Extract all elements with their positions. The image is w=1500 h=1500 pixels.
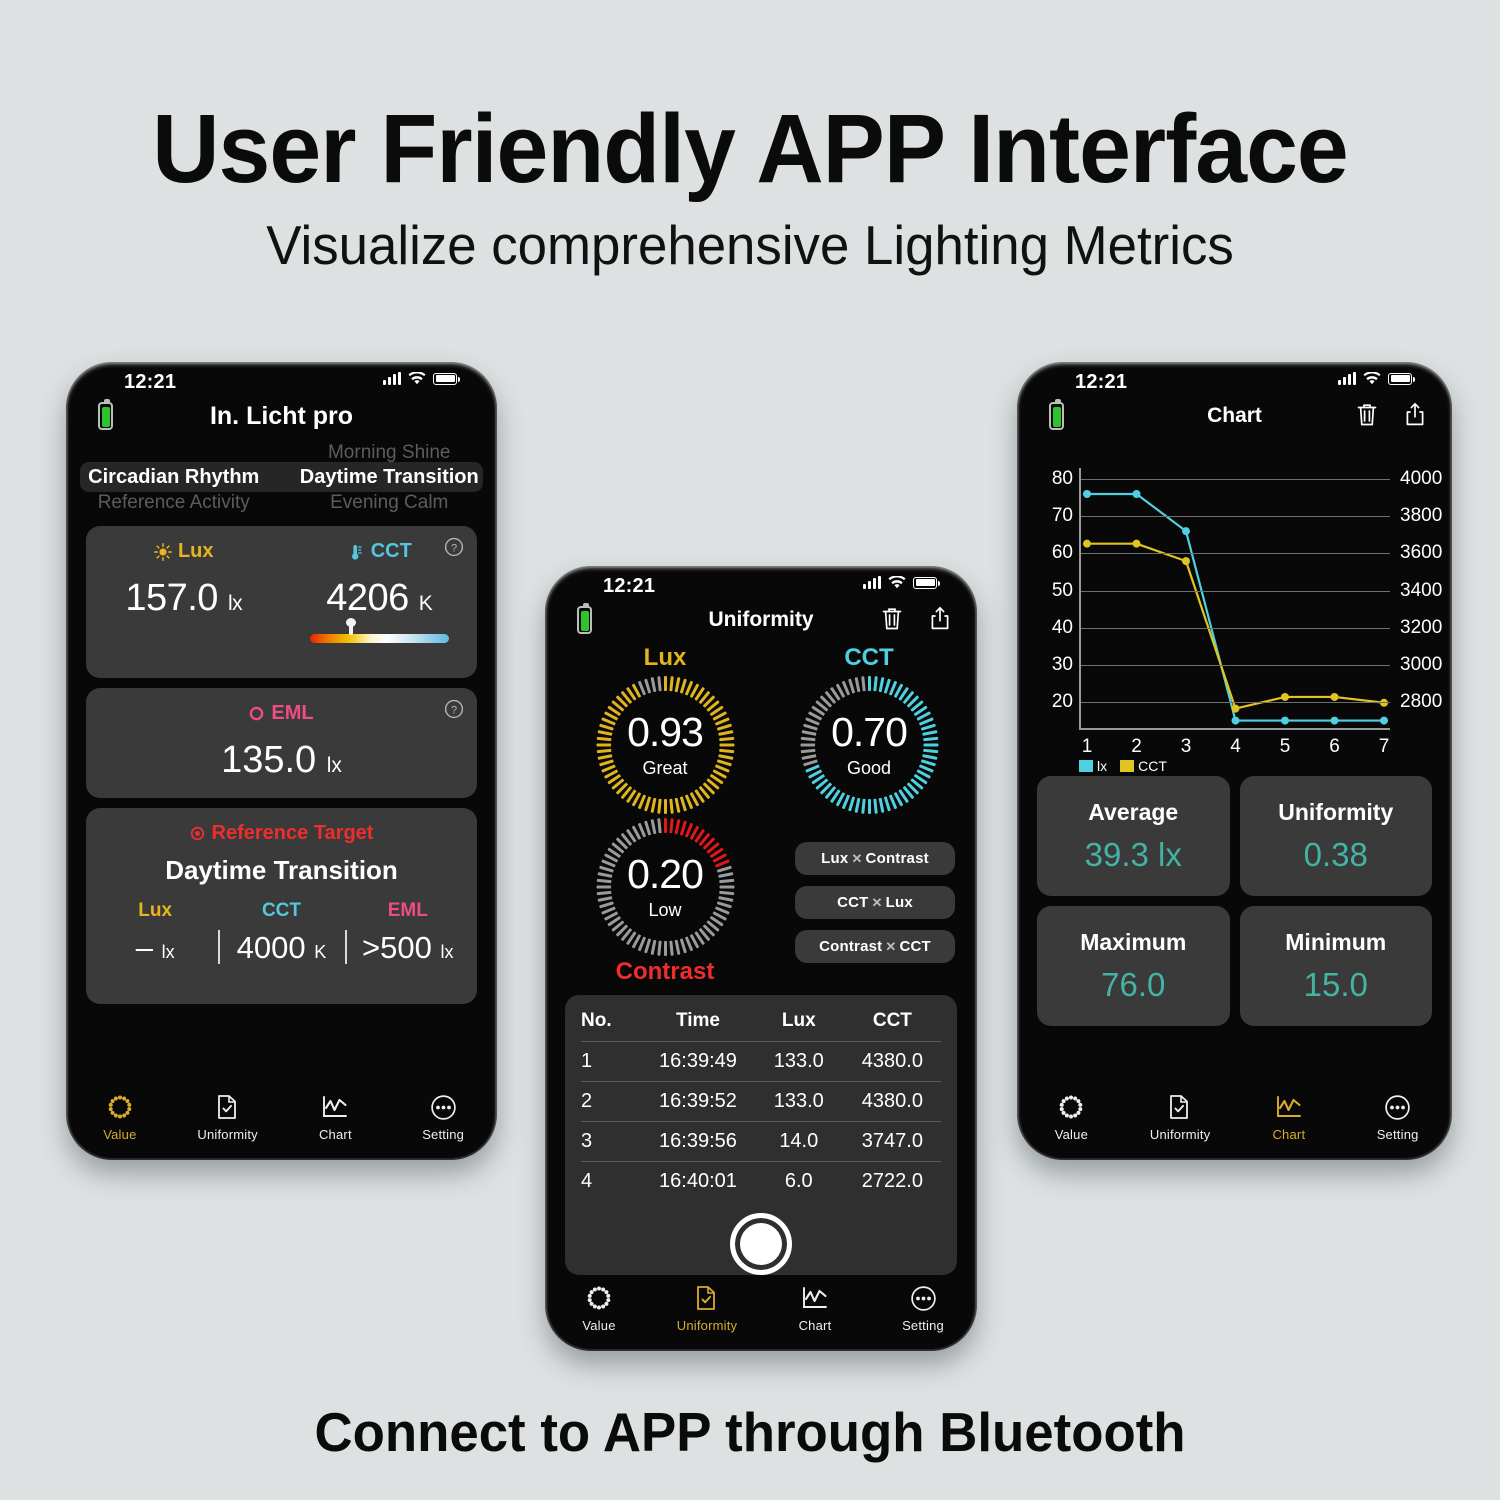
chart-plot: 2028003030004032005034006036007038008040… — [1079, 468, 1390, 730]
gauge-tick — [873, 676, 877, 691]
chart-x-tick: 3 — [1181, 736, 1192, 758]
chart-x-tick: 7 — [1379, 736, 1390, 758]
reference-cell-value: – lx — [92, 930, 218, 966]
picker-left-selected[interactable]: Circadian Rhythm — [66, 466, 282, 489]
sun-icon — [154, 543, 172, 561]
chart-y-left-tick: 60 — [1052, 542, 1073, 564]
lux-cct-card: ? Lux 157.0 lx CCT 4206 K — [86, 526, 477, 678]
tab-chart[interactable]: Chart — [282, 1092, 390, 1142]
chart-data-point[interactable] — [1182, 527, 1190, 535]
status-bar: 12:21 — [66, 362, 497, 398]
picker-left-below[interactable]: Reference Activity — [66, 492, 282, 514]
chart-y-left-tick: 80 — [1052, 468, 1073, 490]
gauge-tick — [674, 677, 680, 692]
table-row[interactable]: 416:40:016.02722.0 — [581, 1162, 941, 1202]
table-cell: 1 — [581, 1042, 642, 1082]
picker-right-below[interactable]: Evening Calm — [282, 492, 498, 514]
table-cell: 2722.0 — [844, 1162, 941, 1202]
gauge-tick — [657, 799, 661, 814]
gauge-quality: Good — [847, 758, 891, 779]
header-actions — [1356, 402, 1426, 427]
comparison-chips: Lux✕Contrast CCT✕Lux Contrast✕CCT — [795, 842, 955, 974]
chip-contrast-cct[interactable]: Contrast✕CCT — [795, 930, 955, 963]
app-title: In. Licht pro — [66, 398, 497, 434]
gauge-quality: Low — [648, 900, 681, 921]
reference-cell-value: >500 lx — [345, 930, 471, 966]
tab-label: Value — [545, 1318, 653, 1333]
tab-bar[interactable]: ValueUniformityChartSetting — [66, 1092, 497, 1142]
gauge-center: 0.20 Low — [611, 833, 719, 941]
chart-series-lx — [1087, 494, 1384, 721]
chart-area: 2028003030004032005034006036007038008040… — [1017, 446, 1452, 776]
chart-gridline — [1081, 516, 1390, 517]
gauge-tick — [657, 818, 661, 833]
chart-y-right-tick: 4000 — [1400, 468, 1442, 490]
gauge-tick — [719, 886, 734, 889]
value-ring-icon — [66, 1092, 174, 1122]
reference-target-grid: Lux – lx CCT 4000 K EML >500 lx — [86, 886, 477, 984]
gauge-tick — [800, 744, 815, 747]
stat-maximum: Maximum 76.0 — [1037, 906, 1230, 1026]
tab-value[interactable]: Value — [545, 1283, 653, 1333]
gauge-tick — [669, 676, 673, 691]
chart-data-point[interactable] — [1331, 717, 1339, 725]
gauge-tick — [657, 676, 661, 691]
gauge-tick — [861, 799, 865, 814]
chart-x-tick: 2 — [1131, 736, 1142, 758]
gauge-tick — [800, 749, 815, 753]
table-cell: 16:39:52 — [642, 1082, 754, 1122]
chart-data-point[interactable] — [1281, 693, 1289, 701]
chart-data-point[interactable] — [1083, 540, 1091, 548]
table-cell: 133.0 — [754, 1042, 844, 1082]
document-check-icon — [174, 1092, 282, 1122]
reference-cell: EML >500 lx — [345, 900, 471, 966]
cct-gradient-bar — [310, 634, 450, 643]
tab-value[interactable]: Value — [1017, 1092, 1126, 1142]
gauge-tick — [657, 941, 661, 956]
tab-chart[interactable]: Chart — [1235, 1092, 1344, 1142]
gauge-tick — [719, 744, 734, 747]
value-ring-icon — [545, 1283, 653, 1313]
tab-bar[interactable]: ValueUniformityChartSetting — [1017, 1092, 1452, 1142]
page-subtitle: Visualize comprehensive Lighting Metrics — [30, 213, 1470, 277]
capture-button[interactable] — [730, 1213, 792, 1275]
gauge-tick — [861, 676, 865, 691]
gauge-tick — [650, 677, 656, 692]
chart-x-tick: 5 — [1280, 736, 1291, 758]
eml-label: EML — [86, 688, 477, 725]
chart-y-left-tick: 70 — [1052, 505, 1073, 527]
thermometer-icon — [347, 543, 365, 561]
gauge-tick — [800, 737, 815, 741]
gauge-cct: 0.70 Good — [800, 676, 938, 814]
chart-gridline — [1081, 553, 1390, 554]
gauge-tick — [669, 941, 673, 956]
gauge-tick — [674, 940, 680, 955]
reference-cell: CCT 4000 K — [218, 900, 344, 966]
cellular-signal-icon — [863, 576, 881, 589]
gauge-tick — [596, 891, 611, 895]
gauge-tick — [868, 676, 871, 691]
chart-data-point[interactable] — [1281, 717, 1289, 725]
battery-icon — [1388, 373, 1412, 385]
gauge-value: 0.20 — [627, 854, 703, 895]
svg-text:?: ? — [451, 704, 457, 716]
trash-icon[interactable] — [881, 606, 903, 631]
gauge-tick — [669, 818, 673, 833]
chart-y-left-tick: 30 — [1052, 654, 1073, 676]
chart-y-right-tick: 3200 — [1400, 617, 1442, 639]
gauge-tick — [664, 941, 667, 956]
svg-text:?: ? — [451, 542, 457, 554]
phone-value-screen: 12:21 In. Licht pro Morning Shine Circad… — [66, 362, 497, 1160]
gauge-tick — [923, 744, 938, 747]
gauge-lux: 0.93 Great — [596, 676, 734, 814]
gauge-tick — [674, 819, 680, 834]
scene-picker[interactable]: Morning Shine Circadian Rhythm Daytime T… — [66, 442, 497, 516]
picker-left-above[interactable] — [66, 442, 282, 464]
cct-gradient-marker — [349, 623, 353, 635]
reference-target-card: Reference Target Daytime Transition Lux … — [86, 808, 477, 1004]
gauge-tick — [719, 879, 734, 883]
tab-uniformity[interactable]: Uniformity — [174, 1092, 282, 1142]
status-clock: 12:21 — [124, 371, 176, 394]
gauge-tick — [674, 798, 680, 813]
eye-circle-icon — [249, 706, 264, 721]
tab-label: Setting — [1343, 1127, 1452, 1142]
chart-gridline — [1081, 479, 1390, 480]
tab-setting[interactable]: Setting — [1343, 1092, 1452, 1142]
lux-metric: Lux 157.0 lx — [86, 540, 282, 643]
gauge-tick — [718, 730, 733, 736]
reference-cell-label: CCT — [218, 900, 344, 922]
status-bar: 12:21 — [1017, 362, 1452, 398]
reference-cell-label: Lux — [92, 900, 218, 922]
line-chart-icon — [761, 1283, 869, 1313]
status-indicators — [1338, 372, 1412, 385]
uniformity-gauges: Lux 0.93 Great CCT 0.70 Good 0.20 Low Co… — [545, 642, 977, 987]
tab-uniformity[interactable]: Uniformity — [653, 1283, 761, 1333]
stat-value: 76.0 — [1101, 966, 1165, 1004]
chart-x-tick: 4 — [1230, 736, 1241, 758]
wifi-icon — [1363, 372, 1381, 385]
stat-uniformity: Uniformity 0.38 — [1240, 776, 1433, 896]
chart-y-right-tick: 3000 — [1400, 654, 1442, 676]
app-header: Uniformity — [545, 602, 977, 642]
reference-cell-label: EML — [345, 900, 471, 922]
table-header-row: No.TimeLuxCCT — [581, 1005, 941, 1042]
table-cell: 6.0 — [754, 1162, 844, 1202]
gauge-center: 0.70 Good — [815, 691, 923, 799]
device-battery-icon — [1049, 402, 1064, 430]
gauge-tick — [719, 891, 734, 895]
table-cell: 16:39:49 — [642, 1042, 754, 1082]
table-cell: 16:40:01 — [642, 1162, 754, 1202]
gauge-value: 0.70 — [831, 712, 907, 753]
gauge-tick — [922, 730, 937, 736]
tab-value[interactable]: Value — [66, 1092, 174, 1142]
tab-label: Value — [66, 1127, 174, 1142]
measurement-table-card: No.TimeLuxCCT 116:39:49133.04380.0216:39… — [565, 995, 957, 1275]
status-bar: 12:21 — [545, 566, 977, 602]
chart-data-point[interactable] — [1133, 490, 1141, 498]
device-battery-icon — [577, 606, 592, 634]
table-cell: 4380.0 — [844, 1042, 941, 1082]
gauge-tick — [664, 799, 667, 814]
reference-target-label: Reference Target — [86, 808, 477, 845]
chart-y-left-tick: 50 — [1052, 580, 1073, 602]
status-clock: 12:21 — [1075, 371, 1127, 394]
gauge-tick — [664, 676, 667, 691]
target-icon — [190, 826, 205, 841]
chart-y-right-tick: 3800 — [1400, 505, 1442, 527]
tab-setting[interactable]: Setting — [869, 1283, 977, 1333]
gauge-tick — [650, 940, 656, 955]
chart-y-right-tick: 3600 — [1400, 542, 1442, 564]
table-column-header: CCT — [844, 1005, 941, 1042]
page-footer-text: Connect to APP through Bluetooth — [30, 1400, 1470, 1464]
chart-gridline — [1081, 665, 1390, 666]
tab-label: Chart — [761, 1318, 869, 1333]
stat-value: 39.3 lx — [1085, 836, 1182, 874]
gauge-tick — [597, 872, 612, 878]
ellipsis-circle-icon — [869, 1283, 977, 1313]
gauge-tick — [650, 819, 656, 834]
reference-target-name: Daytime Transition — [86, 845, 477, 886]
lux-label-text: Lux — [178, 540, 214, 563]
table-column-header: Time — [642, 1005, 754, 1042]
stat-minimum: Minimum 15.0 — [1240, 906, 1433, 1026]
times-icon: ✕ — [869, 895, 886, 911]
chart-x-tick: 6 — [1329, 736, 1340, 758]
share-icon[interactable] — [1404, 402, 1426, 427]
gauge-tick — [596, 749, 611, 753]
lux-value: 157.0 lx — [86, 577, 282, 620]
gauge-tick — [878, 677, 884, 692]
chart-legend: lx CCT — [1079, 758, 1167, 774]
document-check-icon — [653, 1283, 761, 1313]
picker-right-above[interactable]: Morning Shine — [282, 442, 498, 464]
chart-data-point[interactable] — [1232, 717, 1240, 725]
chart-gridline — [1081, 628, 1390, 629]
chart-data-point[interactable] — [1380, 717, 1388, 725]
gauge-tick — [854, 798, 860, 813]
table-cell: 133.0 — [754, 1082, 844, 1122]
header-actions — [881, 606, 951, 631]
cct-value: 4206 K — [282, 577, 478, 620]
tab-uniformity[interactable]: Uniformity — [1126, 1092, 1235, 1142]
gauge-tick — [878, 798, 884, 813]
status-indicators — [863, 576, 937, 589]
table-cell: 3 — [581, 1122, 642, 1162]
help-icon[interactable]: ? — [444, 537, 464, 557]
stat-label: Uniformity — [1278, 799, 1393, 826]
chart-data-point[interactable] — [1133, 540, 1141, 548]
wifi-icon — [408, 372, 426, 385]
phone-chart-screen: 12:21 Chart 2028003030004032005034006036… — [1017, 362, 1452, 1160]
table-row[interactable]: 316:39:5614.03747.0 — [581, 1122, 941, 1162]
gauge-tick — [596, 879, 611, 883]
chart-stats-grid: Average 39.3 lx Uniformity 0.38 Maximum … — [1017, 776, 1452, 1026]
document-check-icon — [1126, 1092, 1235, 1122]
tab-label: Uniformity — [1126, 1127, 1235, 1142]
gauge-tick — [596, 744, 611, 747]
tab-chart[interactable]: Chart — [761, 1283, 869, 1333]
tab-label: Value — [1017, 1127, 1126, 1142]
stat-average: Average 39.3 lx — [1037, 776, 1230, 896]
legend-item-lx: lx — [1079, 758, 1107, 774]
ellipsis-circle-icon — [1343, 1092, 1452, 1122]
gauge-tick — [718, 872, 733, 878]
battery-icon — [913, 577, 937, 589]
gauge-tick — [873, 799, 877, 814]
stat-label: Maximum — [1080, 929, 1186, 956]
chart-data-point[interactable] — [1232, 705, 1240, 713]
tab-label: Setting — [869, 1318, 977, 1333]
chart-series-CCT — [1087, 544, 1384, 709]
chip-cct-lux[interactable]: CCT✕Lux — [795, 886, 955, 919]
tab-label: Uniformity — [174, 1127, 282, 1142]
stat-label: Minimum — [1285, 929, 1386, 956]
table-column-header: No. — [581, 1005, 642, 1042]
gauge-title-cct: CCT — [804, 644, 934, 672]
chart-y-right-tick: 2800 — [1400, 691, 1442, 713]
gauge-tick — [650, 798, 656, 813]
table-column-header: Lux — [754, 1005, 844, 1042]
table-row[interactable]: 116:39:49133.04380.0 — [581, 1042, 941, 1082]
chart-gridline — [1081, 591, 1390, 592]
gauge-center: 0.93 Great — [611, 691, 719, 799]
gauge-tick — [923, 749, 938, 753]
share-icon[interactable] — [929, 606, 951, 631]
gauge-contrast: 0.20 Low — [596, 818, 734, 956]
table-row[interactable]: 216:39:52133.04380.0 — [581, 1082, 941, 1122]
stat-label: Average — [1088, 799, 1178, 826]
wifi-icon — [888, 576, 906, 589]
gauge-tick — [664, 818, 667, 833]
page-title: User Friendly APP Interface — [30, 100, 1470, 197]
gauge-tick — [596, 886, 611, 889]
chart-data-point[interactable] — [1331, 693, 1339, 701]
cellular-signal-icon — [1338, 372, 1356, 385]
legend-item-cct: CCT — [1120, 758, 1167, 774]
tab-label: Chart — [282, 1127, 390, 1142]
value-ring-icon — [1017, 1092, 1126, 1122]
stat-value: 0.38 — [1304, 836, 1368, 874]
table-cell: 3747.0 — [844, 1122, 941, 1162]
stat-value: 15.0 — [1304, 966, 1368, 1004]
chart-y-left-tick: 20 — [1052, 691, 1073, 713]
times-icon: ✕ — [882, 939, 899, 955]
table-cell: 16:39:56 — [642, 1122, 754, 1162]
status-clock: 12:21 — [603, 575, 655, 598]
table-cell: 14.0 — [754, 1122, 844, 1162]
device-battery-icon — [98, 402, 113, 430]
tab-label: Setting — [389, 1127, 497, 1142]
chart-lines — [1081, 468, 1390, 728]
app-header: In. Licht pro — [66, 398, 497, 438]
gauge-title-lux: Lux — [600, 644, 730, 672]
cellular-signal-icon — [383, 372, 401, 385]
table-cell: 2 — [581, 1082, 642, 1122]
eml-value: 135.0 lx — [86, 725, 477, 800]
chart-y-right-tick: 3400 — [1400, 580, 1442, 602]
trash-icon[interactable] — [1356, 402, 1378, 427]
reference-cell-value: 4000 K — [218, 930, 344, 966]
gauge-title-contrast: Contrast — [585, 958, 745, 986]
measurement-table: No.TimeLuxCCT 116:39:49133.04380.0216:39… — [581, 1005, 941, 1201]
chip-lux-contrast[interactable]: Lux✕Contrast — [795, 842, 955, 875]
gauge-tick — [596, 737, 611, 741]
picker-right-selected[interactable]: Daytime Transition — [282, 466, 498, 489]
gauge-tick — [923, 737, 938, 741]
reference-cell: Lux – lx — [92, 900, 218, 966]
gauge-quality: Great — [642, 758, 687, 779]
phone-uniformity-screen: 12:21 Uniformity Lux 0.93 Great CC — [545, 566, 977, 1351]
lux-metric-label: Lux — [86, 540, 282, 563]
help-icon[interactable]: ? — [444, 699, 464, 719]
tab-label: Chart — [1235, 1127, 1344, 1142]
chart-data-point[interactable] — [1182, 557, 1190, 565]
gauge-tick — [854, 677, 860, 692]
cct-label-text: CCT — [371, 540, 412, 563]
chart-x-tick: 1 — [1082, 736, 1093, 758]
line-chart-icon — [282, 1092, 390, 1122]
table-cell: 4 — [581, 1162, 642, 1202]
gauge-tick — [597, 730, 612, 736]
tab-setting[interactable]: Setting — [389, 1092, 497, 1142]
gauge-tick — [669, 799, 673, 814]
gauge-value: 0.93 — [627, 712, 703, 753]
gauge-tick — [868, 799, 871, 814]
chart-gridline — [1081, 702, 1390, 703]
tab-bar[interactable]: ValueUniformityChartSetting — [545, 1283, 977, 1333]
chart-y-left-tick: 40 — [1052, 617, 1073, 639]
gauge-tick — [719, 737, 734, 741]
chart-data-point[interactable] — [1083, 490, 1091, 498]
times-icon: ✕ — [848, 851, 865, 867]
eml-card: ? EML 135.0 lx — [86, 688, 477, 798]
tab-label: Uniformity — [653, 1318, 761, 1333]
app-header: Chart — [1017, 398, 1452, 438]
line-chart-icon — [1235, 1092, 1344, 1122]
status-indicators — [383, 372, 457, 385]
battery-icon — [433, 373, 457, 385]
ellipsis-circle-icon — [389, 1092, 497, 1122]
table-cell: 4380.0 — [844, 1082, 941, 1122]
gauge-tick — [801, 730, 816, 736]
gauge-tick — [719, 749, 734, 753]
